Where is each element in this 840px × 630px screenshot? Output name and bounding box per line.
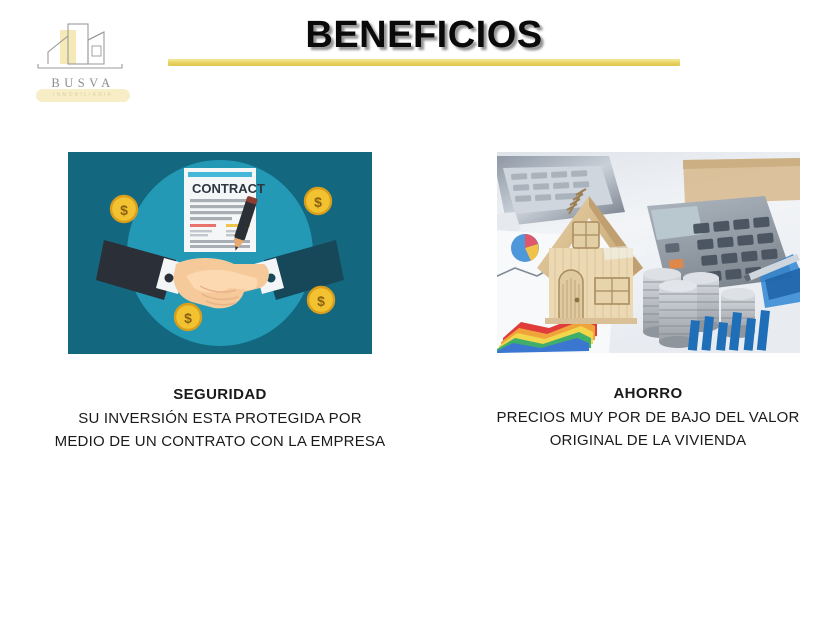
slide-title: BENEFICIOS xyxy=(168,16,680,54)
slide-title-text: BENEFICIOS xyxy=(168,16,680,54)
building-outline-icon xyxy=(34,22,134,78)
title-underline-rule xyxy=(168,59,680,66)
svg-text:CONTRACT: CONTRACT xyxy=(192,181,265,196)
benefit-caption-seguridad: SEGURIDAD SU INVERSIÓN ESTA PROTEGIDA PO… xyxy=(50,384,390,453)
benefit-heading: AHORRO xyxy=(483,383,813,406)
benefit-body: SU INVERSIÓN ESTA PROTEGIDA POR MEDIO DE… xyxy=(50,407,390,454)
svg-text:$: $ xyxy=(120,202,128,218)
benefit-body: PRECIOS MUY POR DE BAJO DEL VALOR ORIGIN… xyxy=(483,406,813,453)
busva-logo: BUSVA INMOBILIARIA xyxy=(28,22,138,108)
svg-text:$: $ xyxy=(184,310,192,326)
benefit-heading: SEGURIDAD xyxy=(50,384,390,407)
benefit-column-ahorro: AHORRO PRECIOS MUY POR DE BAJO DEL VALOR… xyxy=(497,152,800,452)
slide-root: BUSVA INMOBILIARIA BENEFICIOS CONTRACT xyxy=(0,0,840,630)
benefit-caption-ahorro: AHORRO PRECIOS MUY POR DE BAJO DEL VALOR… xyxy=(483,383,813,452)
svg-text:$: $ xyxy=(317,293,325,309)
benefit-column-seguridad: CONTRACT xyxy=(68,152,372,453)
svg-text:$: $ xyxy=(314,194,322,210)
handshake-contract-illustration: CONTRACT xyxy=(68,152,372,354)
wooden-house-coins-photo xyxy=(497,152,800,353)
logo-tagline: INMOBILIARIA xyxy=(28,92,138,98)
